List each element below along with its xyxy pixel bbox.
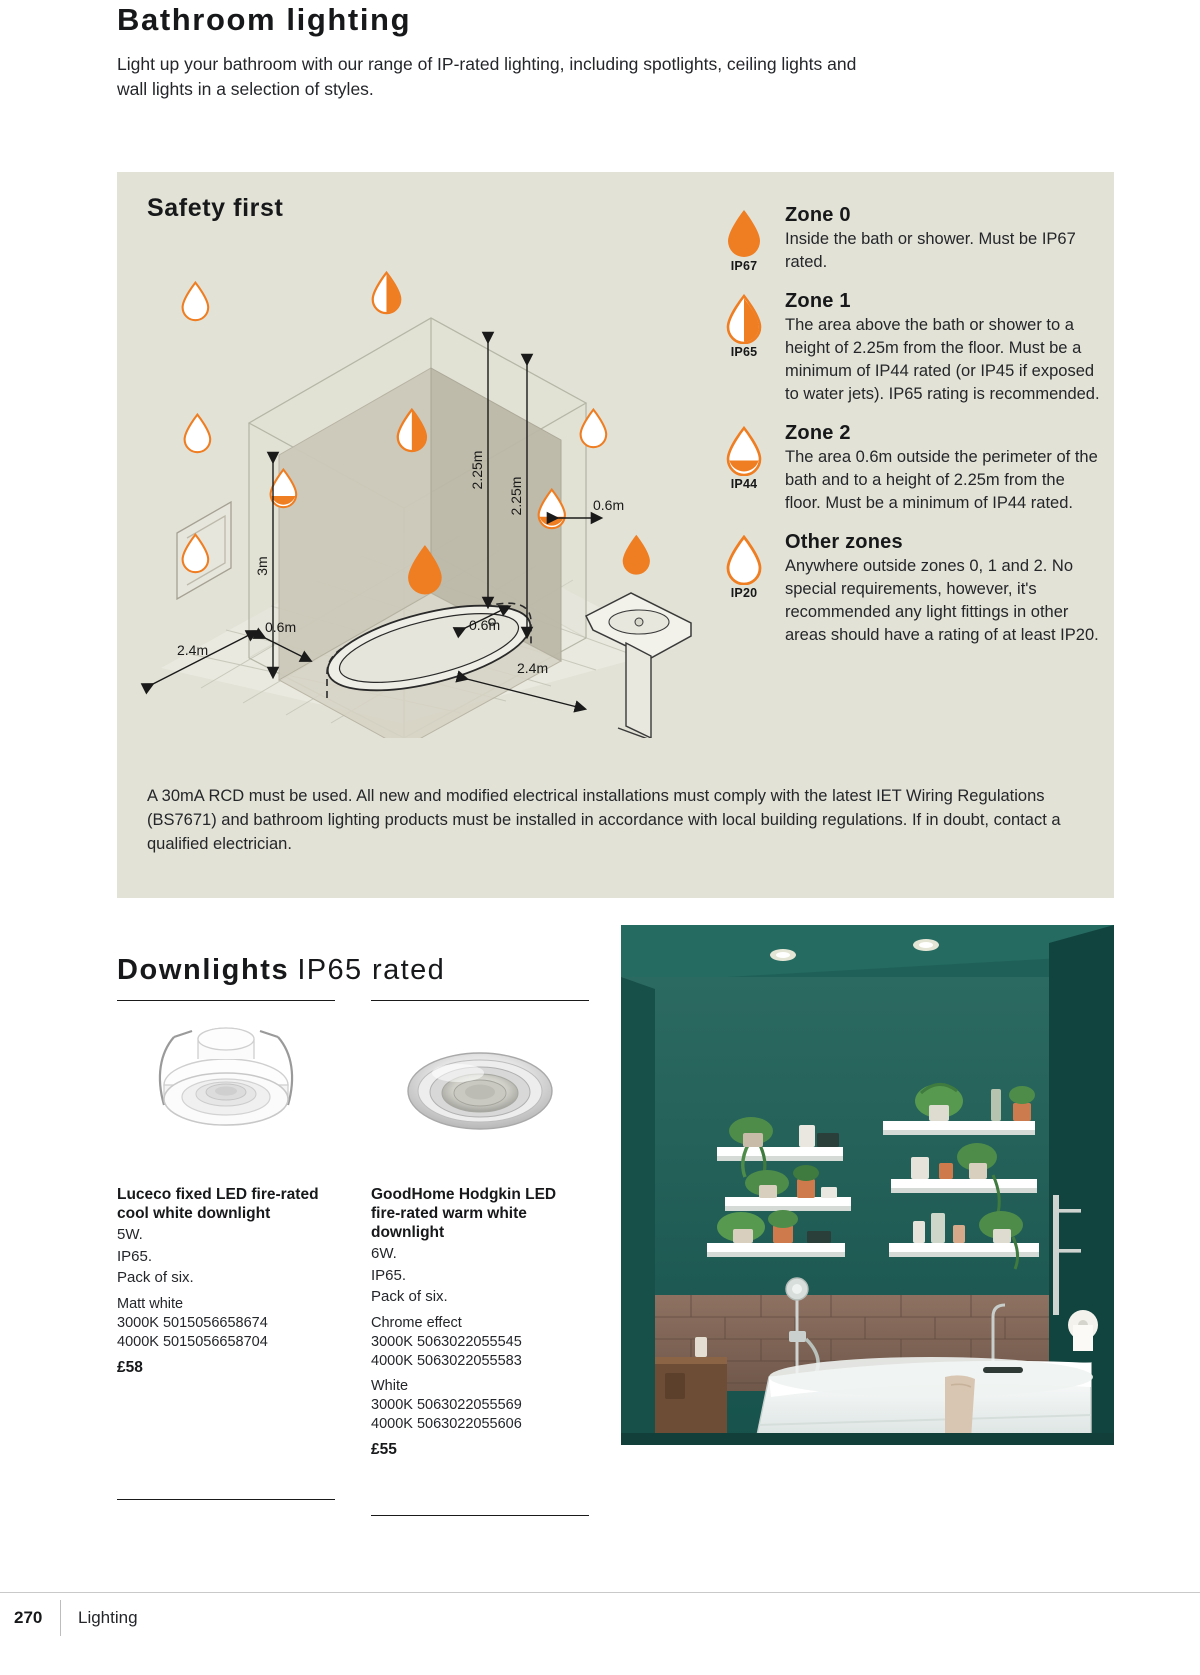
droplet-half-icon: IP65 (715, 294, 773, 359)
dim-2-25m-outer: 2.25m (508, 477, 524, 516)
dim-3m: 3m (254, 556, 270, 575)
dim-0-6m-left: 0.6m (265, 619, 296, 635)
product-image-hodgkin (371, 1015, 589, 1185)
diagram-droplet-full-2 (623, 535, 650, 575)
zone-item-other: IP20 Other zones Anywhere outside zones … (709, 531, 1101, 647)
diagram-droplet-outline-2 (185, 415, 211, 453)
zone-title: Zone 2 (785, 422, 1101, 445)
zone-description: The area above the bath or shower to a h… (785, 314, 1101, 406)
page-intro: Light up your bathroom with our range of… (117, 52, 877, 102)
zone-description: The area 0.6m outside the perimeter of t… (785, 446, 1101, 515)
diagram-droplet-outline-1 (183, 283, 209, 321)
zone-title: Zone 1 (785, 290, 1101, 313)
product-price: £55 (371, 1441, 589, 1459)
catalog-page: Bathroom lighting Light up your bathroom… (0, 0, 1200, 1675)
page-title: Bathroom lighting (117, 0, 1067, 40)
product-spec: IP65. (117, 1246, 335, 1268)
zone-item-1: IP65 Zone 1 The area above the bath or s… (709, 290, 1101, 406)
product-card[interactable]: Luceco fixed LED fire-rated cool white d… (117, 1000, 335, 1500)
variant-code: 3000K 5063022055569 (371, 1396, 589, 1415)
dim-0-6m-right: 0.6m (469, 617, 500, 633)
diagram-droplet-half-1 (373, 273, 401, 313)
zone-title: Other zones (785, 531, 1101, 554)
footer-divider (0, 1592, 1200, 1593)
footer-category: Lighting (78, 1608, 138, 1628)
product-card[interactable]: GoodHome Hodgkin LED fire-rated warm whi… (371, 1000, 589, 1516)
variant-code: 4000K 5063022055583 (371, 1352, 589, 1371)
product-spec: IP65. (371, 1265, 589, 1287)
product-variant: White 3000K 5063022055569 4000K 50630220… (371, 1377, 589, 1434)
variant-finish: Matt white (117, 1295, 335, 1314)
zone-ip-rating: IP65 (715, 345, 773, 359)
page-number: 270 (14, 1608, 42, 1628)
product-name: Luceco fixed LED fire-rated cool white d… (117, 1185, 335, 1223)
zone-title: Zone 0 (785, 204, 1101, 227)
variant-code: 3000K 5015056658674 (117, 1314, 335, 1333)
product-image-luceco (117, 1015, 335, 1185)
bathroom-zone-diagram: 3m 2.25m 2.25m 0.6m (131, 218, 701, 738)
variant-code: 4000K 5015056658704 (117, 1333, 335, 1352)
safety-first-panel: Safety first (117, 172, 1114, 898)
product-name: GoodHome Hodgkin LED fire-rated warm whi… (371, 1185, 589, 1242)
product-spec: 5W. (117, 1224, 335, 1246)
divider-top (371, 1000, 589, 1001)
product-specs: 5W. IP65. Pack of six. (117, 1224, 335, 1289)
product-spec: 6W. (371, 1243, 589, 1265)
droplet-outline-icon: IP20 (715, 535, 773, 600)
dim-0-6m-basin: 0.6m (593, 497, 624, 513)
downlights-heading-bold: Downlights (117, 954, 289, 986)
zone-description: Inside the bath or shower. Must be IP67 … (785, 228, 1101, 274)
divider-top (117, 1000, 335, 1001)
zone-legend: IP67 Zone 0 Inside the bath or shower. M… (709, 204, 1101, 647)
droplet-bottom-fill-icon: IP44 (715, 426, 773, 491)
safety-regulations-note: A 30mA RCD must be used. All new and mod… (147, 784, 1087, 856)
zone-item-2: IP44 Zone 2 The area 0.6m outside the pe… (709, 422, 1101, 515)
product-specs: 6W. IP65. Pack of six. (371, 1243, 589, 1308)
product-spec: Pack of six. (371, 1286, 589, 1308)
product-price: £58 (117, 1359, 335, 1377)
zone-description: Anywhere outside zones 0, 1 and 2. No sp… (785, 555, 1101, 647)
dim-2-4m-left: 2.4m (177, 642, 208, 658)
bathroom-photo (621, 925, 1114, 1445)
droplet-full-icon: IP67 (715, 208, 773, 273)
divider-bottom (371, 1515, 589, 1516)
dim-2-25m-inner: 2.25m (469, 451, 485, 490)
variant-finish: White (371, 1377, 589, 1396)
dim-2-4m-right: 2.4m (517, 660, 548, 676)
product-variant: Chrome effect 3000K 5063022055545 4000K … (371, 1314, 589, 1371)
downlights-heading: Downlights IP65 rated (117, 950, 445, 990)
zone-ip-rating: IP44 (715, 477, 773, 491)
variant-finish: Chrome effect (371, 1314, 589, 1333)
product-variant: Matt white 3000K 5015056658674 4000K 501… (117, 1295, 335, 1352)
variant-code: 3000K 5063022055545 (371, 1333, 589, 1352)
divider-bottom (117, 1499, 335, 1500)
page-header: Bathroom lighting Light up your bathroom… (117, 0, 1067, 102)
zone-ip-rating: IP67 (715, 259, 773, 273)
variant-code: 4000K 5063022055606 (371, 1415, 589, 1434)
zone-item-0: IP67 Zone 0 Inside the bath or shower. M… (709, 204, 1101, 274)
downlights-heading-light: IP65 rated (297, 954, 445, 986)
footer-separator (60, 1600, 61, 1636)
product-spec: Pack of six. (117, 1267, 335, 1289)
zone-ip-rating: IP20 (715, 586, 773, 600)
